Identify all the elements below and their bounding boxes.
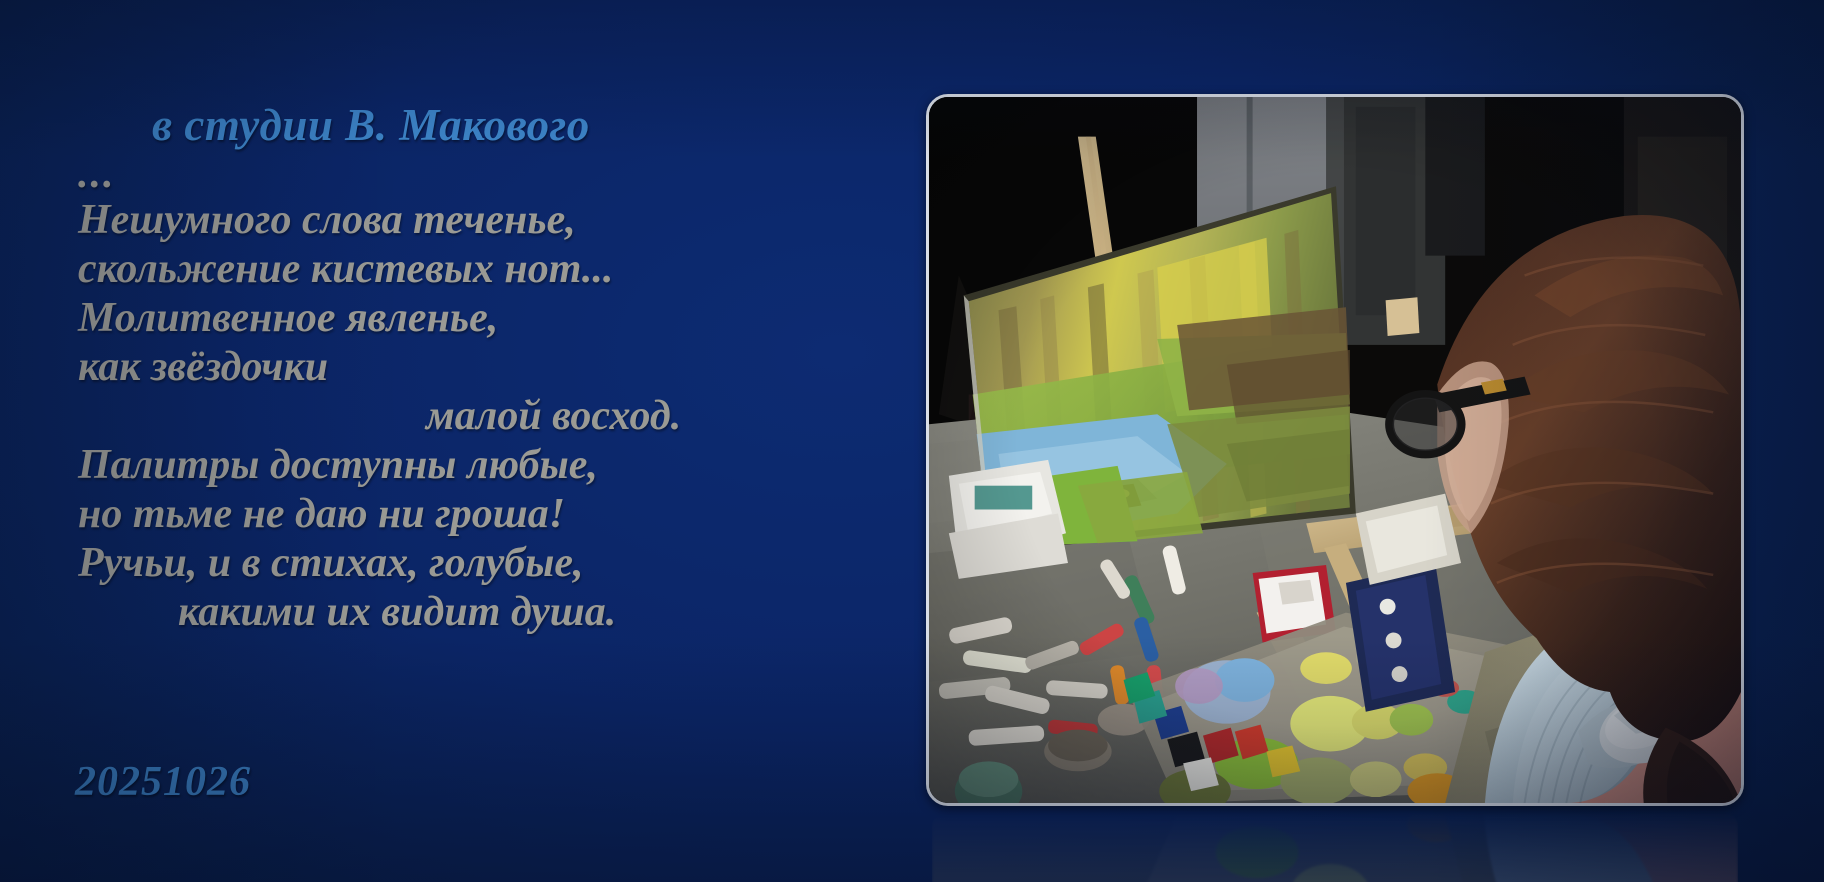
poem-body: ... Нешумного слова теченье, скольжение … bbox=[78, 152, 798, 637]
text-column: в студии В. Макового ... Нешумного слова… bbox=[0, 0, 800, 882]
poem-line: Нешумного слова теченье, bbox=[78, 196, 798, 245]
poem-line: скольжение кистевых нот... bbox=[78, 245, 798, 294]
poem-line: ... bbox=[78, 152, 798, 196]
poem-line: как звёздочки bbox=[78, 343, 798, 392]
art-studio-photo bbox=[929, 97, 1741, 803]
poem-line: Палитры доступны любые, bbox=[78, 441, 798, 490]
poem-line: малой восход. bbox=[78, 392, 798, 441]
photo-reflection-artwork bbox=[932, 812, 1738, 882]
poem-line: какими их видит душа. bbox=[78, 588, 798, 637]
date-stamp: 20251026 bbox=[75, 758, 251, 806]
poem-line: Молитвенное явленье, bbox=[78, 294, 798, 343]
slide-canvas: в студии В. Макового ... Нешумного слова… bbox=[0, 0, 1824, 882]
page-title: в студии В. Макового bbox=[152, 99, 590, 151]
poem-line: но тьме не даю ни гроша! bbox=[78, 490, 798, 539]
photo-container bbox=[926, 94, 1744, 806]
photo-reflection bbox=[932, 812, 1738, 882]
poem-line: Ручьи, и в стихах, голубые, bbox=[78, 539, 798, 588]
photo-frame bbox=[926, 94, 1744, 806]
photo-artwork bbox=[929, 97, 1741, 803]
